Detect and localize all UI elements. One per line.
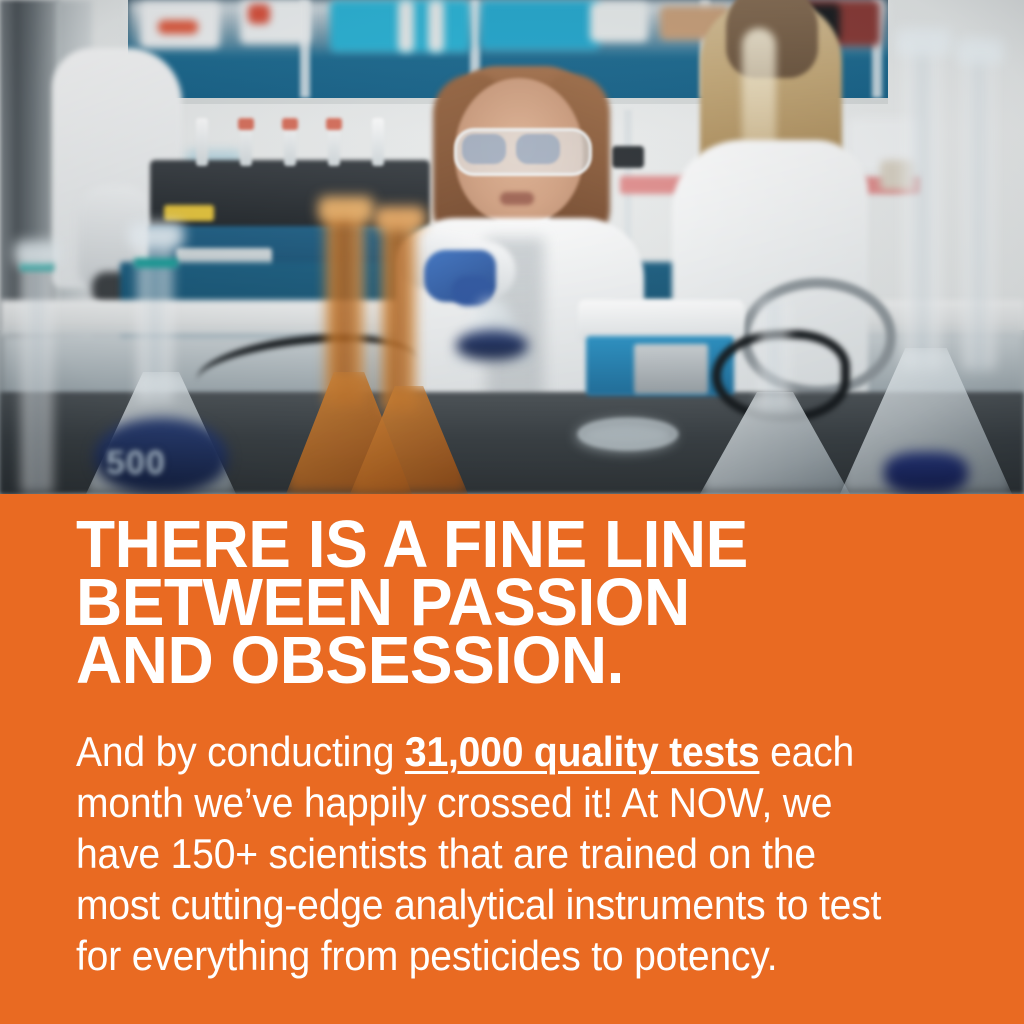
lab-photograph: 500: [0, 0, 1024, 494]
flask-rim: [956, 38, 1004, 64]
page-title: THERE IS A FINE LINE BETWEEN PASSION AND…: [76, 516, 936, 690]
cabinet-container: [590, 2, 648, 42]
flask-graduation-mark: [134, 258, 178, 268]
flask-liquid-navy: [456, 330, 528, 360]
graduated-cylinder: [22, 250, 52, 494]
goggle-lens-left: [462, 134, 506, 164]
flask-volume-label: 500: [106, 444, 166, 483]
orange-text-panel: THERE IS A FINE LINE BETWEEN PASSION AND…: [0, 494, 1024, 1024]
volumetric-flask-neck-amber: [382, 216, 416, 412]
flask-rim: [896, 28, 952, 56]
flask-rim-amber: [318, 196, 374, 222]
cabinet-label-red: [248, 4, 270, 24]
test-tube-cap: [282, 118, 298, 130]
ring-stand-clamp: [612, 146, 644, 168]
body-text-before: And by conducting: [76, 728, 405, 775]
test-tube-cap: [238, 118, 254, 130]
test-tube-cap: [326, 118, 342, 130]
cabinet-tube: [398, 0, 414, 52]
volumetric-flask-neck: [760, 300, 788, 408]
social-graphic-canvas: 500 THERE IS A FINE LINE BETWEEN PASSION…: [0, 0, 1024, 1024]
flask-rim: [128, 222, 184, 248]
volumetric-flask-neck: [964, 50, 994, 370]
cylinder-rim: [14, 240, 60, 266]
watch-glass: [576, 420, 676, 452]
volumetric-flask-neck: [904, 40, 940, 370]
scientist-mouth: [500, 192, 534, 205]
flask-rim-amber: [374, 206, 426, 230]
cabinet-label-red: [158, 20, 198, 34]
rack-label-yellow: [164, 205, 214, 221]
instrument-grey-panel: [634, 344, 708, 394]
body-paragraph: And by conducting 31,000 quality tests e…: [76, 726, 894, 981]
cabinet-tube: [428, 0, 444, 52]
goggle-lens-right: [516, 134, 560, 164]
test-tube: [196, 118, 208, 166]
test-tube: [372, 118, 384, 166]
ring-stand-rod: [624, 110, 632, 240]
flask-liquid-navy: [884, 452, 968, 494]
quality-tests-emphasis: 31,000 quality tests: [405, 728, 760, 775]
cabinet-bottles-cyan: [480, 0, 600, 50]
